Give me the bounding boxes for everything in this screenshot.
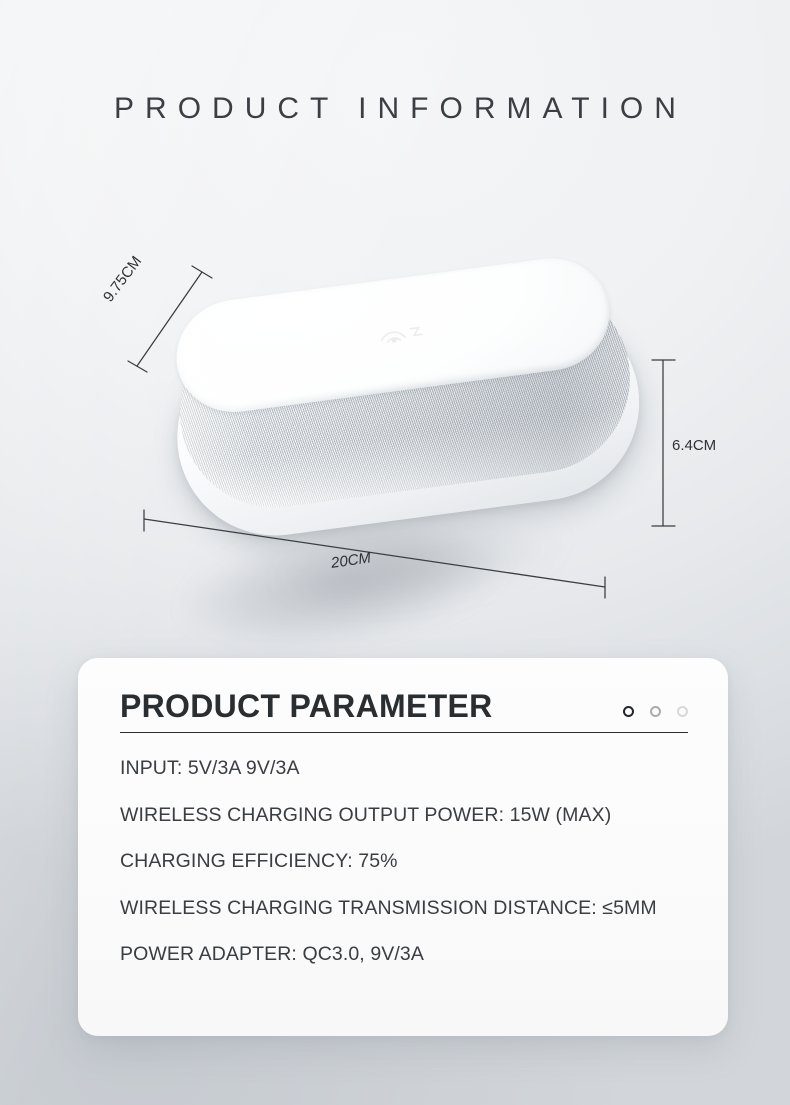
parameter-item: POWER ADAPTER: QC3.0, 9V/3A xyxy=(120,945,688,965)
pagination-dots[interactable] xyxy=(623,706,688,722)
wireless-charging-icon xyxy=(366,316,434,350)
parameter-item: WIRELESS CHARGING TRANSMISSION DISTANCE:… xyxy=(120,899,688,919)
parameter-card-header: PRODUCT PARAMETER xyxy=(120,690,688,733)
parameter-item: INPUT: 5V/3A 9V/3A xyxy=(120,759,688,779)
dot-indicator-1[interactable] xyxy=(623,706,634,717)
parameter-item: CHARGING EFFICIENCY: 75% xyxy=(120,852,688,872)
dot-indicator-2[interactable] xyxy=(650,706,661,717)
dot-indicator-3[interactable] xyxy=(677,706,688,717)
parameter-card-title: PRODUCT PARAMETER xyxy=(120,690,493,722)
product-image xyxy=(0,210,790,640)
page-title: PRODUCT INFORMATION xyxy=(0,92,790,126)
parameter-item: WIRELESS CHARGING OUTPUT POWER: 15W (MAX… xyxy=(120,806,688,826)
parameter-list: INPUT: 5V/3A 9V/3A WIRELESS CHARGING OUT… xyxy=(120,759,688,965)
product-parameter-card: PRODUCT PARAMETER INPUT: 5V/3A 9V/3A WIR… xyxy=(78,658,728,1036)
